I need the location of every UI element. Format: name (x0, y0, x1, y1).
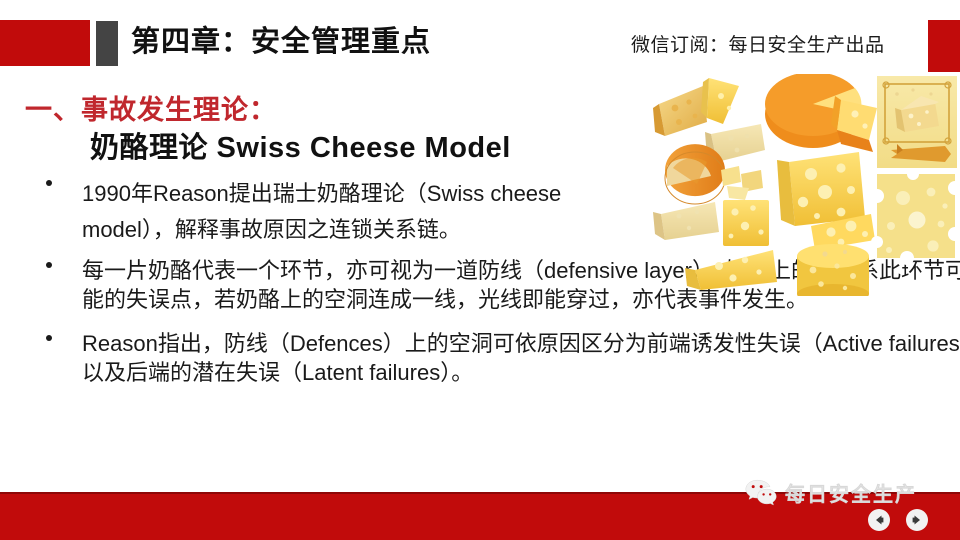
section-heading-primary: 一、事故发生理论： (25, 88, 277, 127)
wechat-brand: 每日安全生产 (745, 478, 917, 507)
bullet-text: 1990年Reason提出瑞士奶酪理论（Swiss cheese model），… (82, 176, 642, 247)
arrow-left-icon (872, 513, 886, 527)
bullet-dot-icon (46, 335, 52, 341)
wechat-account-name: 每日安全生产 (785, 478, 917, 507)
page-title: 第四章：安全管理重点 (131, 22, 431, 62)
prev-slide-button[interactable] (868, 509, 890, 531)
slide-nav-buttons (868, 509, 928, 531)
list-item: Reason指出，防线（Defences）上的空洞可依原因区分为前端诱发性失误（… (38, 330, 960, 387)
bullet-text: Reason指出，防线（Defences）上的空洞可依原因区分为前端诱发性失误（… (82, 330, 960, 387)
header-subscription-note: 微信订阅：每日安全生产出品 (631, 30, 885, 57)
wechat-icon (745, 479, 777, 506)
bullet-dot-icon (46, 180, 52, 186)
bullet-dot-icon (46, 262, 52, 268)
header-red-block-right (928, 20, 960, 72)
slide-canvas: 第四章：安全管理重点 微信订阅：每日安全生产出品 一、事故发生理论： 奶酪理论 … (0, 0, 960, 540)
next-slide-button[interactable] (906, 509, 928, 531)
arrow-right-icon (910, 513, 924, 527)
header-gray-bar (96, 21, 118, 66)
list-item: 1990年Reason提出瑞士奶酪理论（Swiss cheese model），… (38, 176, 642, 247)
header-red-block-left (0, 20, 90, 66)
cheese-collage-image (645, 74, 960, 296)
section-heading-secondary: 奶酪理论 Swiss Cheese Model (90, 124, 511, 166)
